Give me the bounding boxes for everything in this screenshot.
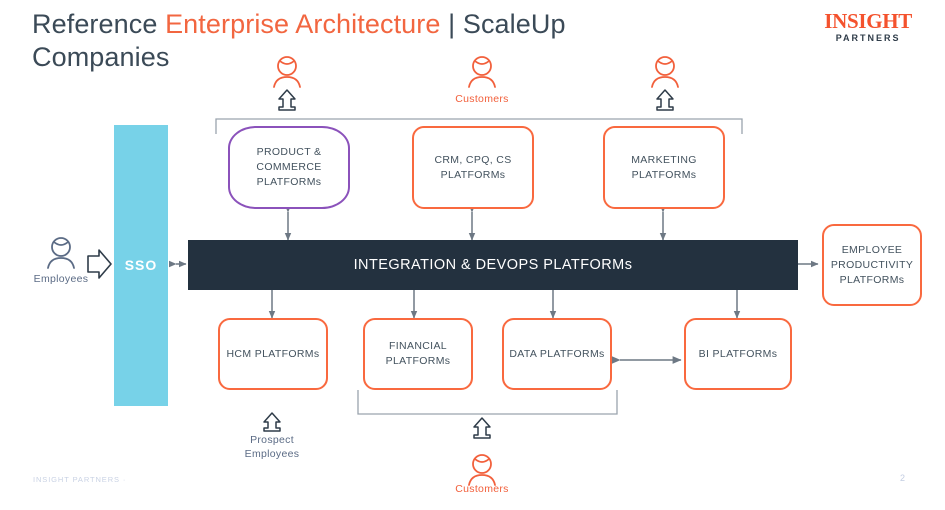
- node-sso-label: SSO: [125, 258, 158, 273]
- person-icon-customers-top-right: [652, 57, 678, 87]
- node-financial-platforms[interactable]: FINANCIAL PLATFORMs: [363, 318, 473, 390]
- person-icon-customers-bottom: [469, 455, 495, 485]
- node-bi-platforms[interactable]: BI PLATFORMs: [684, 318, 792, 390]
- node-crm-cpq-cs-platforms-label: CRM, CPQ, CS PLATFORMs: [414, 153, 532, 183]
- node-integration-devops-label: INTEGRATION & DEVOPS PLATFORMs: [354, 258, 633, 273]
- node-sso[interactable]: SSO: [114, 125, 168, 406]
- label-customers-bottom: Customers: [437, 482, 527, 496]
- node-integration-devops[interactable]: INTEGRATION & DEVOPS PLATFORMs: [188, 240, 798, 290]
- node-bi-platforms-label: BI PLATFORMs: [699, 347, 778, 362]
- label-employees: Employees: [21, 272, 101, 286]
- page-number: 2: [900, 473, 905, 483]
- title-accent: Enterprise Architecture: [165, 9, 440, 39]
- updown-arrow-customers-bottom: [474, 418, 490, 438]
- node-hcm-platforms[interactable]: HCM PLATFORMs: [218, 318, 328, 390]
- title-part-1: Reference: [32, 9, 165, 39]
- updown-arrow-customers-top-left: [279, 90, 295, 110]
- node-data-platforms[interactable]: DATA PLATFORMs: [502, 318, 612, 390]
- node-crm-cpq-cs-platforms[interactable]: CRM, CPQ, CS PLATFORMs: [412, 126, 534, 209]
- page-title: Reference Enterprise Architecture | Scal…: [32, 8, 652, 74]
- node-financial-platforms-label: FINANCIAL PLATFORMs: [365, 339, 471, 369]
- node-marketing-platforms-label: MARKETING PLATFORMs: [605, 153, 723, 183]
- node-product-commerce-platforms-label: PRODUCT & COMMERCE PLATFORMs: [230, 145, 348, 190]
- label-prospect-employees: Prospect Employees: [222, 433, 322, 461]
- title-divider: |: [441, 9, 463, 39]
- logo-subtext: PARTNERS: [824, 33, 912, 43]
- node-hcm-platforms-label: HCM PLATFORMs: [226, 347, 319, 362]
- footer-text: INSIGHT PARTNERS ·: [33, 475, 126, 484]
- node-marketing-platforms[interactable]: MARKETING PLATFORMs: [603, 126, 725, 209]
- node-employee-productivity-platforms-label: EMPLOYEE PRODUCTIVITY PLATFORMs: [824, 243, 920, 288]
- node-product-commerce-platforms[interactable]: PRODUCT & COMMERCE PLATFORMs: [228, 126, 350, 209]
- label-customers-top: Customers: [437, 92, 527, 106]
- node-data-platforms-label: DATA PLATFORMs: [509, 347, 604, 362]
- bottom-bracket: [358, 390, 617, 414]
- updown-arrow-prospect-employees: [264, 413, 280, 431]
- insight-partners-logo: INSIGHT PARTNERS: [824, 10, 912, 43]
- logo-wordmark: INSIGHT: [824, 10, 912, 32]
- updown-arrow-customers-top-right: [657, 90, 673, 110]
- node-employee-productivity-platforms[interactable]: EMPLOYEE PRODUCTIVITY PLATFORMs: [822, 224, 922, 306]
- person-icon-employees: [48, 238, 74, 268]
- slide-canvas: Reference Enterprise Architecture | Scal…: [0, 0, 945, 510]
